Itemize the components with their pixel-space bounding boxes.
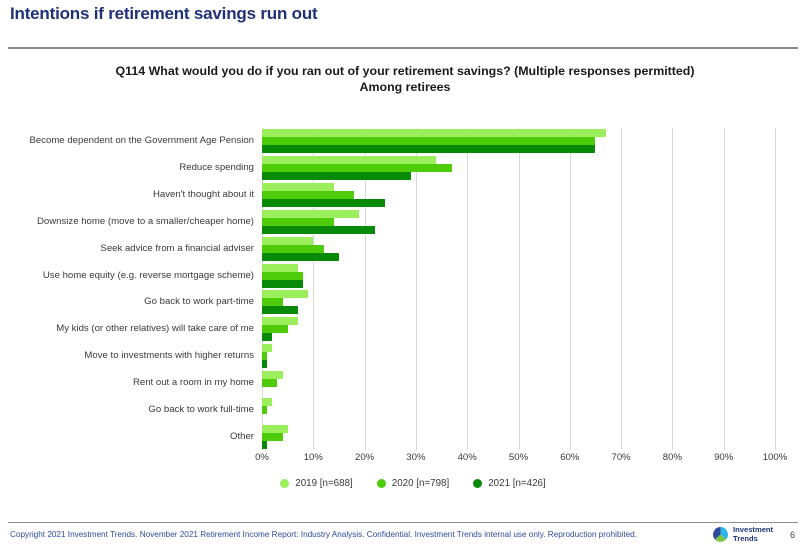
x-tick-label: 90% bbox=[714, 452, 733, 463]
bar-2019 bbox=[262, 183, 334, 191]
legend-swatch-icon bbox=[377, 479, 386, 488]
bar-group bbox=[262, 344, 775, 368]
category-label: Rent out a room in my home bbox=[0, 377, 254, 388]
bar-2020 bbox=[262, 352, 267, 360]
gridline bbox=[775, 128, 776, 450]
logo-word-line-2: Trends bbox=[733, 535, 773, 543]
category-label: Use home equity (e.g. reverse mortgage s… bbox=[0, 270, 254, 281]
bar-2019 bbox=[262, 425, 288, 433]
bar-group bbox=[262, 183, 775, 207]
page-number: 6 bbox=[790, 530, 795, 540]
bar-2020 bbox=[262, 137, 595, 145]
bar-2020 bbox=[262, 325, 288, 333]
bar-group bbox=[262, 371, 775, 395]
bar-2021 bbox=[262, 172, 411, 180]
category-axis-labels: Become dependent on the Government Age P… bbox=[0, 128, 254, 450]
bar-2020 bbox=[262, 164, 452, 172]
bar-group bbox=[262, 156, 775, 180]
logo-wordmark: Investment Trends bbox=[733, 526, 773, 543]
bar-group bbox=[262, 264, 775, 288]
bar-group bbox=[262, 317, 775, 341]
chart-title-line-2: Among retirees bbox=[60, 79, 750, 95]
bar-2019 bbox=[262, 290, 308, 298]
legend-label: 2019 [n=688] bbox=[295, 478, 352, 489]
bar-group bbox=[262, 425, 775, 449]
chart-title-line-1: Q114 What would you do if you ran out of… bbox=[60, 63, 750, 79]
legend-swatch-icon bbox=[473, 479, 482, 488]
bar-2021 bbox=[262, 199, 385, 207]
x-tick-label: 50% bbox=[509, 452, 528, 463]
bar-2021 bbox=[262, 333, 272, 341]
bar-group bbox=[262, 290, 775, 314]
bar-2021 bbox=[262, 306, 298, 314]
x-tick-label: 0% bbox=[255, 452, 269, 463]
x-tick-label: 100% bbox=[763, 452, 788, 463]
x-tick-label: 40% bbox=[458, 452, 477, 463]
category-label: Become dependent on the Government Age P… bbox=[0, 135, 254, 146]
bar-2020 bbox=[262, 218, 334, 226]
x-tick-label: 10% bbox=[304, 452, 323, 463]
footer-copyright: Copyright 2021 Investment Trends. Novemb… bbox=[10, 530, 637, 539]
bar-2019 bbox=[262, 398, 272, 406]
category-label: Haven't thought about it bbox=[0, 189, 254, 200]
bar-2019 bbox=[262, 210, 359, 218]
bar-2021 bbox=[262, 280, 303, 288]
x-tick-label: 80% bbox=[663, 452, 682, 463]
investment-trends-logo: Investment Trends bbox=[712, 526, 773, 543]
category-label: Downsize home (move to a smaller/cheaper… bbox=[0, 216, 254, 227]
chart-title: Q114 What would you do if you ran out of… bbox=[60, 63, 750, 95]
bar-group bbox=[262, 129, 775, 153]
bar-2019 bbox=[262, 317, 298, 325]
bar-2019 bbox=[262, 371, 283, 379]
bar-2020 bbox=[262, 272, 303, 280]
category-label: Move to investments with higher returns bbox=[0, 350, 254, 361]
bar-2020 bbox=[262, 406, 267, 414]
logo-mark-icon bbox=[712, 526, 729, 543]
chart-plot-area bbox=[262, 128, 775, 450]
bar-2019 bbox=[262, 344, 272, 352]
bar-2019 bbox=[262, 156, 436, 164]
category-label: My kids (or other relatives) will take c… bbox=[0, 323, 254, 334]
bar-group bbox=[262, 398, 775, 422]
category-label: Other bbox=[0, 431, 254, 442]
footer-divider bbox=[8, 522, 798, 523]
bar-2019 bbox=[262, 129, 606, 137]
legend-swatch-icon bbox=[280, 479, 289, 488]
bar-2020 bbox=[262, 191, 354, 199]
bar-group bbox=[262, 210, 775, 234]
category-label: Reduce spending bbox=[0, 162, 254, 173]
legend-item[interactable]: 2021 [n=426] bbox=[473, 478, 545, 489]
x-tick-label: 60% bbox=[560, 452, 579, 463]
x-tick-label: 30% bbox=[406, 452, 425, 463]
category-label: Go back to work part-time bbox=[0, 296, 254, 307]
bar-2021 bbox=[262, 360, 267, 368]
bar-2021 bbox=[262, 226, 375, 234]
page-title: Intentions if retirement savings run out bbox=[10, 4, 317, 24]
legend-item[interactable]: 2020 [n=798] bbox=[377, 478, 449, 489]
bar-2021 bbox=[262, 441, 267, 449]
bar-2021 bbox=[262, 253, 339, 261]
chart-legend: 2019 [n=688]2020 [n=798]2021 [n=426] bbox=[0, 478, 806, 489]
legend-label: 2020 [n=798] bbox=[392, 478, 449, 489]
legend-label: 2021 [n=426] bbox=[488, 478, 545, 489]
bar-2021 bbox=[262, 145, 595, 153]
category-label: Go back to work full-time bbox=[0, 404, 254, 415]
category-label: Seek advice from a financial adviser bbox=[0, 243, 254, 254]
title-divider bbox=[8, 47, 798, 49]
bar-2019 bbox=[262, 237, 313, 245]
bar-2020 bbox=[262, 433, 283, 441]
bar-group bbox=[262, 237, 775, 261]
x-tick-label: 20% bbox=[355, 452, 374, 463]
bar-2020 bbox=[262, 379, 277, 387]
legend-item[interactable]: 2019 [n=688] bbox=[280, 478, 352, 489]
x-axis-tick-labels: 0%10%20%30%40%50%60%70%80%90%100% bbox=[262, 452, 775, 468]
x-tick-label: 70% bbox=[611, 452, 630, 463]
bar-2019 bbox=[262, 264, 298, 272]
bar-2020 bbox=[262, 298, 283, 306]
bar-2020 bbox=[262, 245, 324, 253]
